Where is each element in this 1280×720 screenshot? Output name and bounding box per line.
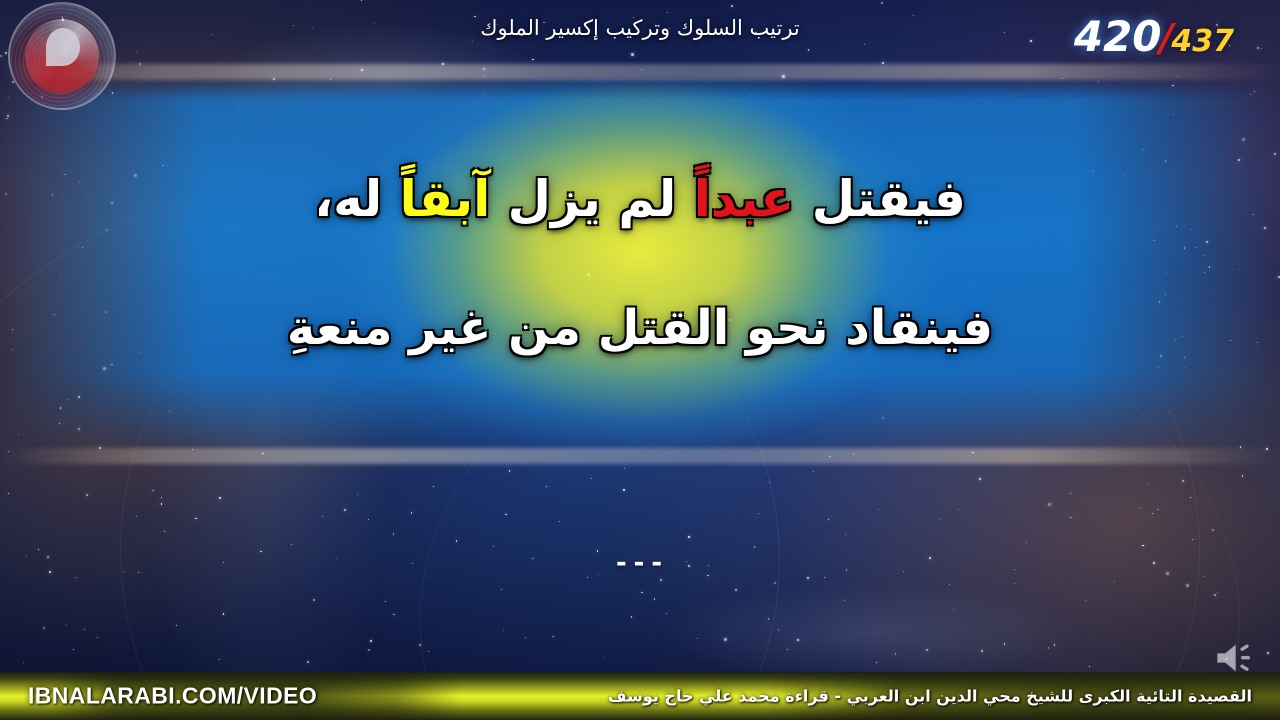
star — [1014, 583, 1015, 584]
star — [368, 519, 369, 520]
star — [1004, 643, 1005, 644]
star — [509, 470, 510, 471]
video-player-stage: ترتيب السلوك وتركيب إكسير الملوك 420/437… — [0, 0, 1280, 720]
star — [1190, 497, 1191, 498]
star — [876, 662, 877, 663]
counter-total: 437 — [1171, 24, 1234, 59]
star — [84, 629, 85, 630]
star — [164, 531, 165, 532]
star — [926, 649, 928, 651]
star — [845, 534, 846, 535]
speaker-volume-icon[interactable] — [1214, 640, 1256, 676]
star — [525, 637, 526, 638]
star — [370, 640, 372, 642]
star — [1048, 647, 1049, 648]
star — [176, 625, 177, 626]
star — [393, 533, 394, 534]
website-url[interactable]: IBNALARABI.COM/VIDEO — [28, 683, 317, 710]
star — [433, 486, 434, 487]
verse-word-1: عبداً — [694, 170, 795, 228]
star — [73, 649, 74, 650]
star — [66, 624, 67, 625]
star — [724, 638, 727, 641]
star — [322, 516, 323, 517]
star — [1142, 545, 1143, 546]
star — [368, 649, 370, 651]
star — [844, 600, 845, 601]
verse-word-4: له، — [314, 170, 400, 228]
star — [735, 589, 736, 590]
star — [428, 651, 429, 652]
star — [161, 497, 162, 498]
star — [313, 599, 315, 601]
star — [152, 490, 153, 491]
star — [219, 497, 221, 499]
star — [1048, 503, 1051, 506]
star — [43, 627, 45, 629]
star — [774, 582, 776, 584]
star — [1085, 600, 1086, 601]
star — [878, 509, 879, 510]
star — [223, 613, 224, 614]
star — [1267, 652, 1269, 654]
star — [393, 614, 394, 615]
star — [1089, 666, 1090, 667]
star — [958, 509, 959, 510]
star — [552, 636, 553, 637]
star — [688, 536, 690, 538]
star — [219, 659, 220, 660]
star — [493, 546, 494, 547]
star — [797, 639, 799, 641]
star — [591, 478, 592, 479]
star — [666, 613, 667, 614]
header: ترتيب السلوك وتركيب إكسير الملوك 420/437 — [0, 0, 1280, 78]
verse-word-2: لم يزل — [490, 170, 693, 228]
verse-word-0: فينقاد نحو القتل من غير منعةِ — [287, 300, 993, 356]
star — [385, 601, 386, 602]
verse-counter: 420/437 — [1074, 16, 1234, 58]
star — [97, 637, 98, 638]
star — [813, 471, 814, 472]
star — [1182, 480, 1183, 481]
star — [631, 616, 632, 617]
star — [23, 662, 24, 663]
star — [604, 657, 605, 658]
star — [546, 486, 547, 487]
star — [769, 482, 770, 483]
counter-current: 420 — [1074, 12, 1162, 61]
star — [940, 519, 941, 520]
star — [624, 468, 625, 469]
star — [768, 618, 769, 619]
star — [1114, 581, 1115, 582]
star — [1152, 513, 1153, 514]
star — [357, 494, 358, 495]
center-marker: --- — [0, 548, 1280, 578]
star — [1026, 542, 1027, 543]
star — [1070, 493, 1071, 494]
star — [411, 512, 412, 513]
verse-line-2: فينقاد نحو القتل من غير منعةِ — [0, 300, 1280, 356]
star — [660, 579, 661, 580]
star — [86, 494, 88, 496]
verse-area: فيقتل عبداً لم يزل آبقاً له، فينقاد نحو … — [0, 78, 1280, 456]
star — [344, 509, 346, 511]
star — [419, 644, 420, 645]
star — [1148, 484, 1149, 485]
star — [1217, 592, 1218, 593]
verse-line-1: فيقتل عبداً لم يزل آبقاً له، — [0, 170, 1280, 228]
star — [1214, 594, 1216, 596]
star — [778, 629, 779, 630]
star — [654, 598, 655, 599]
star — [503, 630, 504, 631]
star — [559, 521, 560, 522]
star — [623, 489, 624, 490]
star — [456, 540, 457, 541]
verse-word-0: فيقتل — [794, 170, 966, 228]
star — [1242, 475, 1243, 476]
star — [195, 518, 196, 519]
star — [758, 513, 759, 514]
star — [641, 592, 642, 593]
star — [828, 519, 829, 520]
footer-credit: القصيدة التائية الكبرى للشيخ محي الدين ا… — [608, 687, 1252, 706]
star — [949, 584, 950, 585]
verse-word-3: آبقاً — [400, 170, 491, 228]
star — [979, 478, 981, 480]
star — [1054, 644, 1055, 645]
star — [307, 661, 308, 662]
star — [1157, 509, 1158, 510]
star — [1186, 584, 1189, 587]
star — [1192, 539, 1193, 540]
star — [505, 514, 506, 515]
star — [981, 650, 983, 652]
star — [697, 638, 698, 639]
star — [1070, 517, 1071, 518]
star — [291, 544, 292, 545]
star — [161, 503, 162, 504]
star — [895, 653, 896, 654]
star — [8, 493, 9, 494]
star — [1212, 529, 1214, 531]
star — [501, 589, 502, 590]
star — [1139, 507, 1140, 508]
star — [787, 649, 788, 650]
star — [136, 516, 137, 517]
footer-bar: IBNALARABI.COM/VIDEO القصيدة التائية الك… — [0, 672, 1280, 720]
star — [953, 609, 954, 610]
